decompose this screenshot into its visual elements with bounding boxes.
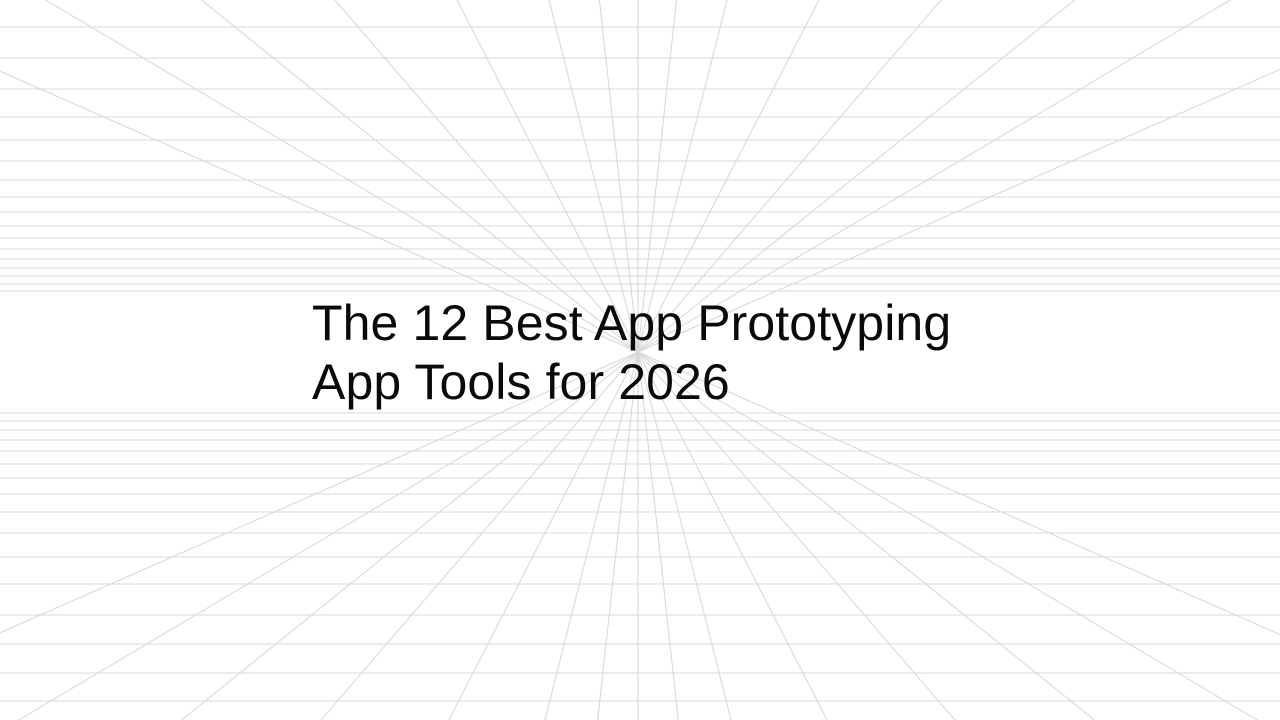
page-title-line-1: The 12 Best App Prototyping (312, 294, 1012, 353)
page-title: The 12 Best App Prototyping App Tools fo… (312, 294, 1012, 412)
page-title-line-2: App Tools for 2026 (312, 353, 1012, 412)
title-card-canvas: The 12 Best App Prototyping App Tools fo… (0, 0, 1280, 720)
